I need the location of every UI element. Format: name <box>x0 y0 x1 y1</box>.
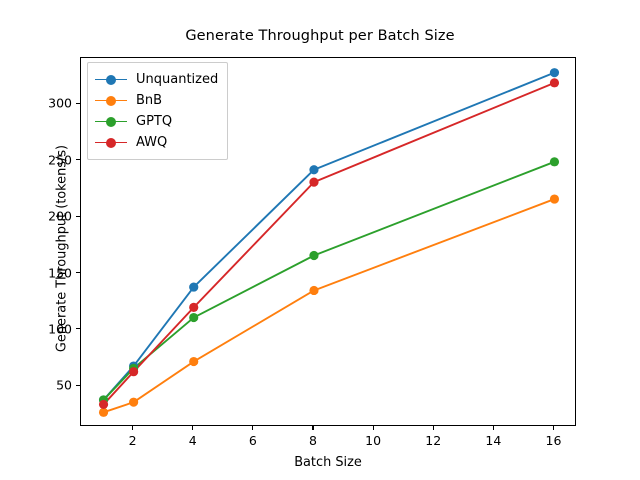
x-tick-label: 8 <box>309 433 317 448</box>
chart-title: Generate Throughput per Batch Size <box>0 28 640 44</box>
data-point-gptq-4 <box>189 313 198 322</box>
data-point-bnb-1 <box>99 408 108 417</box>
data-point-bnb-8 <box>309 286 318 295</box>
y-tick-label: 300 <box>20 96 72 111</box>
data-point-unquantized-16 <box>550 68 559 77</box>
y-tick-label: 150 <box>20 265 72 280</box>
legend-marker-icon <box>95 94 127 108</box>
data-point-awq-4 <box>189 303 198 312</box>
data-point-unquantized-8 <box>309 165 318 174</box>
x-tick-label: 6 <box>249 433 257 448</box>
series-line-bnb <box>104 199 555 412</box>
legend-marker-icon <box>95 136 127 150</box>
legend-marker-icon <box>95 73 127 87</box>
y-tick-label: 250 <box>20 152 72 167</box>
legend: UnquantizedBnBGPTQAWQ <box>87 62 228 160</box>
data-point-unquantized-4 <box>189 282 198 291</box>
legend-label: GPTQ <box>136 114 172 129</box>
legend-item-awq[interactable]: AWQ <box>95 132 218 153</box>
series-line-gptq <box>104 162 555 400</box>
legend-item-unquantized[interactable]: Unquantized <box>95 69 218 90</box>
data-point-awq-1 <box>99 400 108 409</box>
legend-item-bnb[interactable]: BnB <box>95 90 218 111</box>
legend-label: BnB <box>136 93 162 108</box>
matplotlib-figure: Generate Throughput per Batch Size Gener… <box>0 0 640 480</box>
x-axis-label: Batch Size <box>80 455 576 470</box>
x-tick-label: 14 <box>485 433 501 448</box>
y-tick-label: 50 <box>20 378 72 393</box>
data-point-bnb-4 <box>189 357 198 366</box>
legend-label: AWQ <box>136 135 167 150</box>
data-point-bnb-16 <box>550 194 559 203</box>
x-tick-label: 4 <box>189 433 197 448</box>
legend-marker-icon <box>95 115 127 129</box>
y-tick-label: 100 <box>20 321 72 336</box>
data-point-gptq-8 <box>309 251 318 260</box>
data-point-awq-16 <box>550 78 559 87</box>
y-axis-label: Generate Throughput (tokens/s) <box>55 99 70 399</box>
x-tick-label: 10 <box>365 433 381 448</box>
x-tick-label: 16 <box>546 433 562 448</box>
y-tick-label: 200 <box>20 209 72 224</box>
data-point-awq-8 <box>309 178 318 187</box>
data-point-bnb-2 <box>129 398 138 407</box>
data-point-gptq-16 <box>550 157 559 166</box>
data-point-awq-2 <box>129 367 138 376</box>
x-tick-label: 2 <box>129 433 137 448</box>
legend-label: Unquantized <box>136 72 218 87</box>
legend-item-gptq[interactable]: GPTQ <box>95 111 218 132</box>
x-tick-label: 12 <box>425 433 441 448</box>
